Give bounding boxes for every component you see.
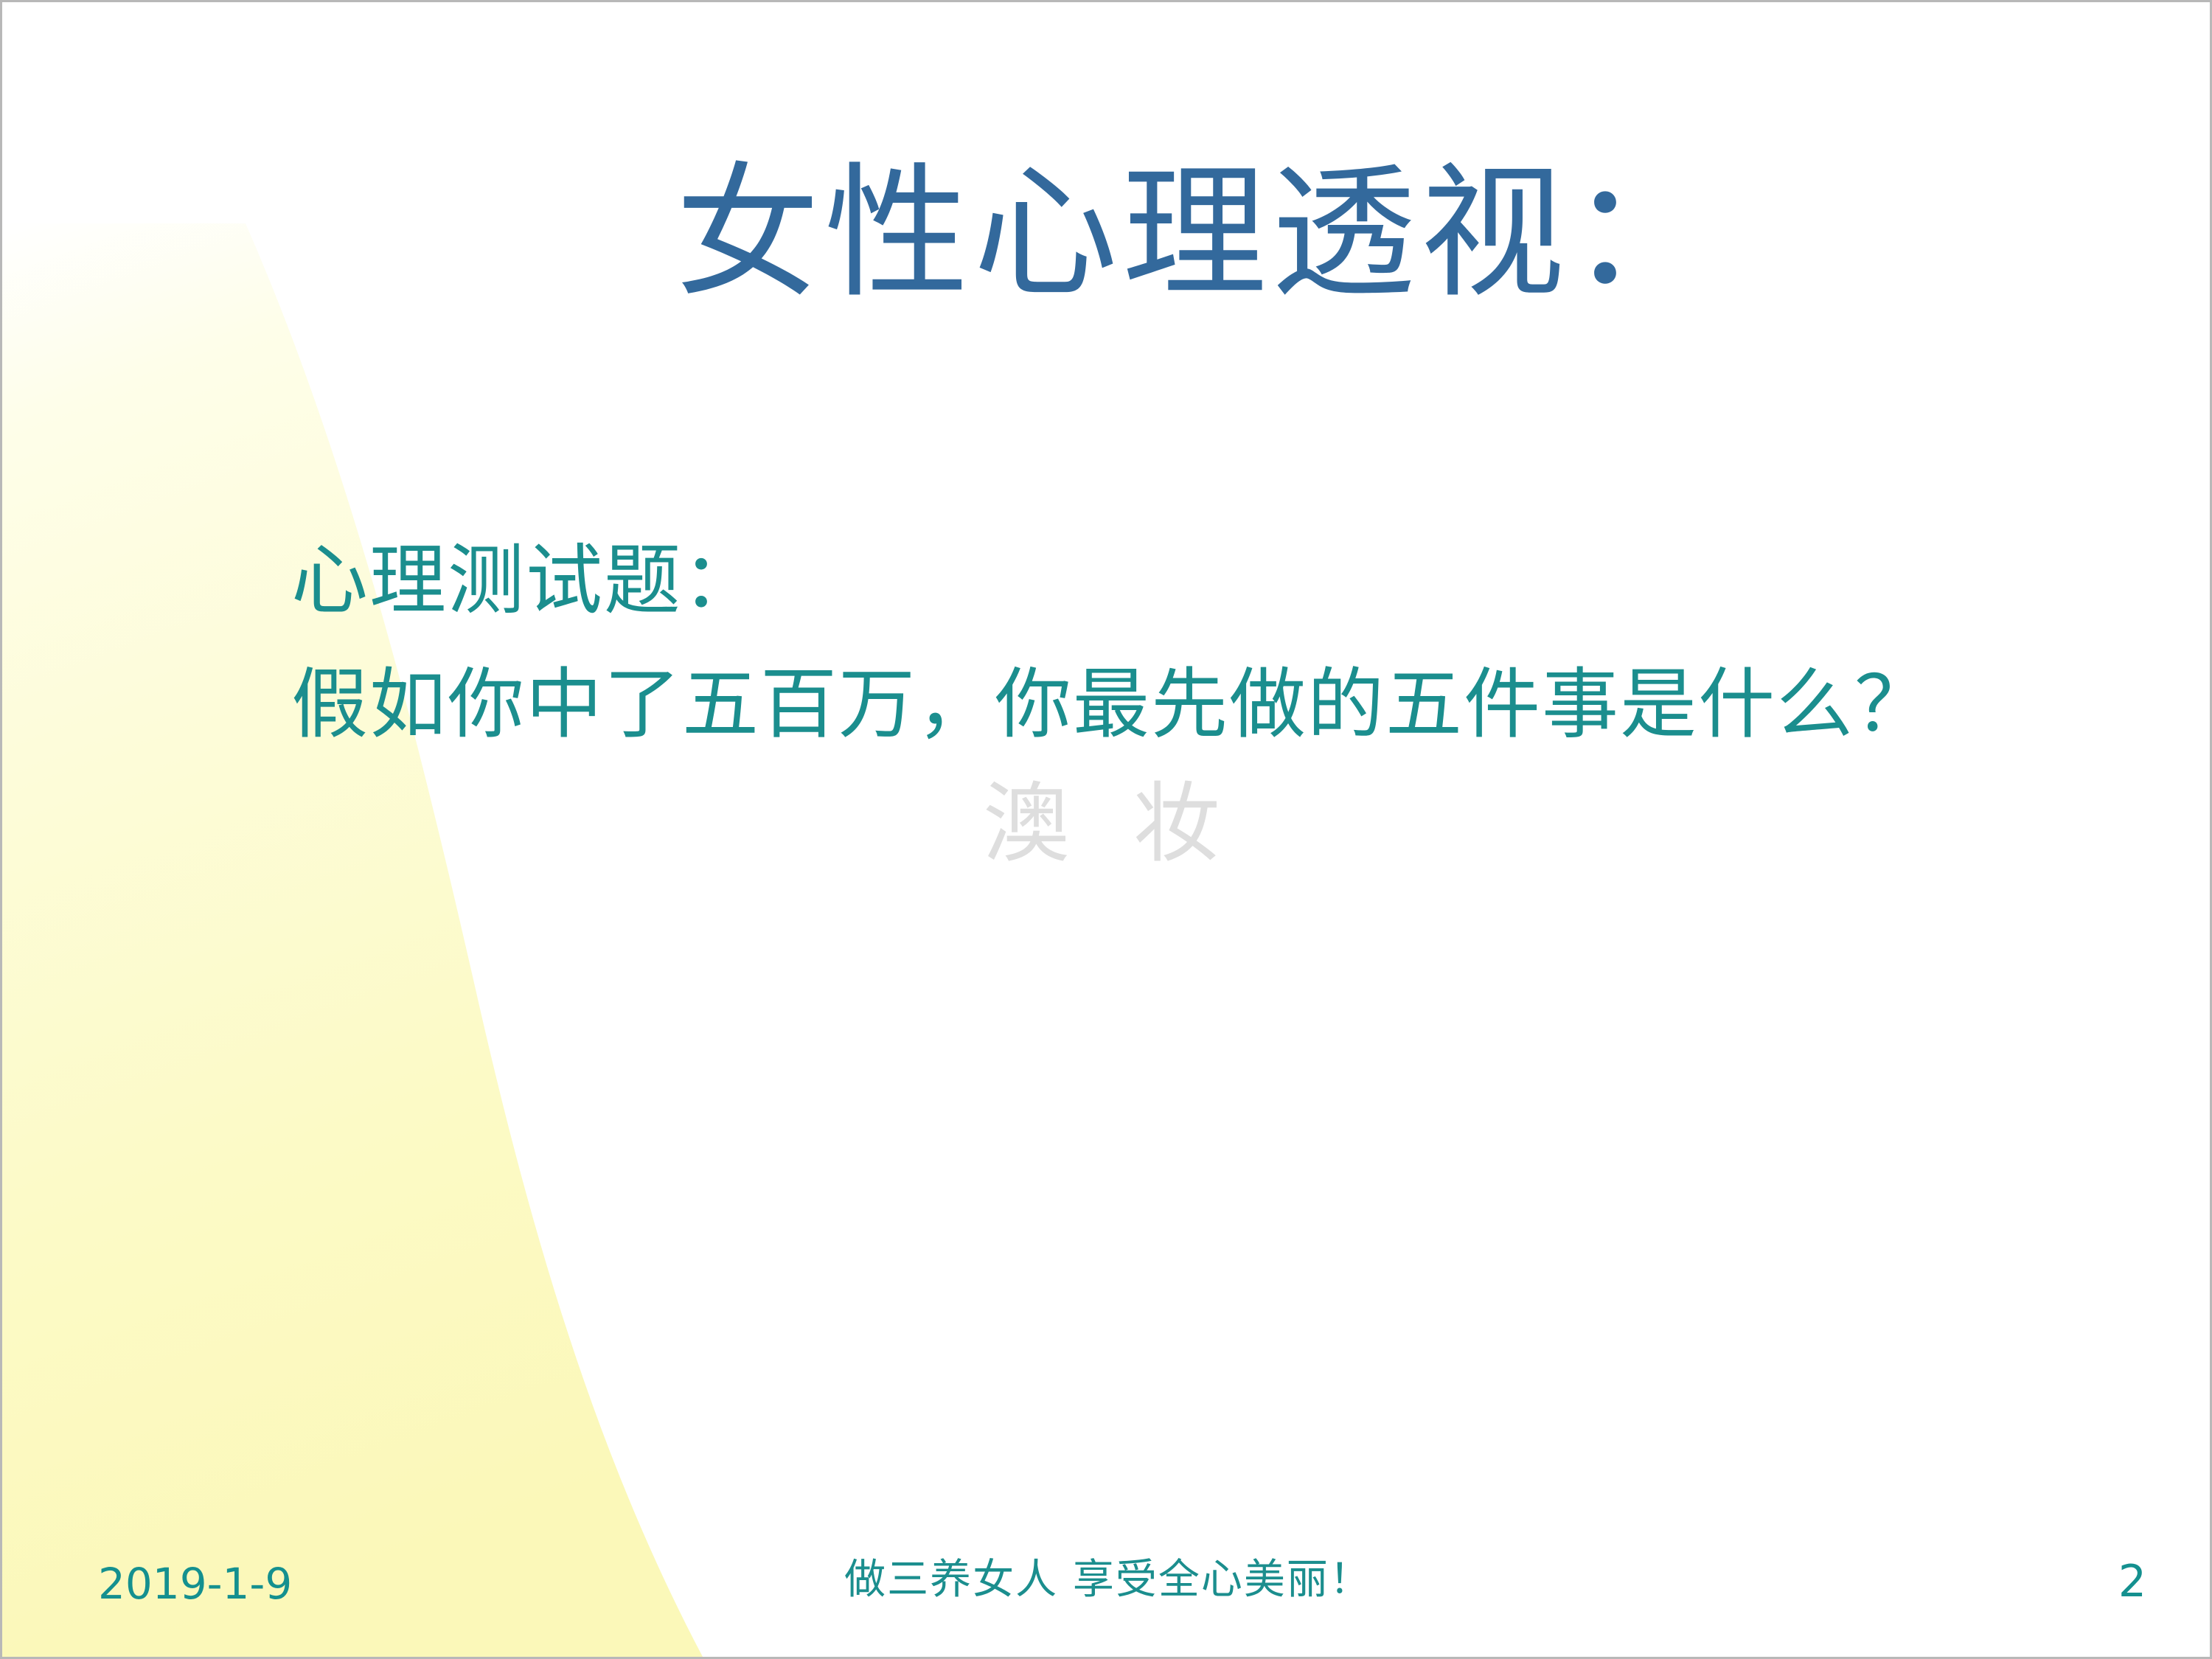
slide-title: 女性心理透视： [2, 153, 2212, 316]
body-line-1: 心理测试题： [291, 518, 2061, 642]
slide-footer: 2019-1-9 做三养女人 享受全心美丽！ 2 [2, 1517, 2212, 1657]
footer-slogan: 做三养女人 享受全心美丽！ [2, 1559, 2212, 1601]
body-line-2: 假如你中了五百万，你最先做的五件事是什么？ [291, 642, 2061, 766]
presentation-slide: 女性心理透视： 心理测试题： 假如你中了五百万，你最先做的五件事是什么？ 澳 妆… [0, 0, 2212, 1659]
slide-body: 心理测试题： 假如你中了五百万，你最先做的五件事是什么？ [291, 518, 2061, 767]
brand-watermark: 澳 妆 [983, 780, 1238, 867]
slide-title-text: 女性心理透视： [675, 153, 1718, 316]
footer-page-number: 2 [2118, 1559, 2146, 1604]
